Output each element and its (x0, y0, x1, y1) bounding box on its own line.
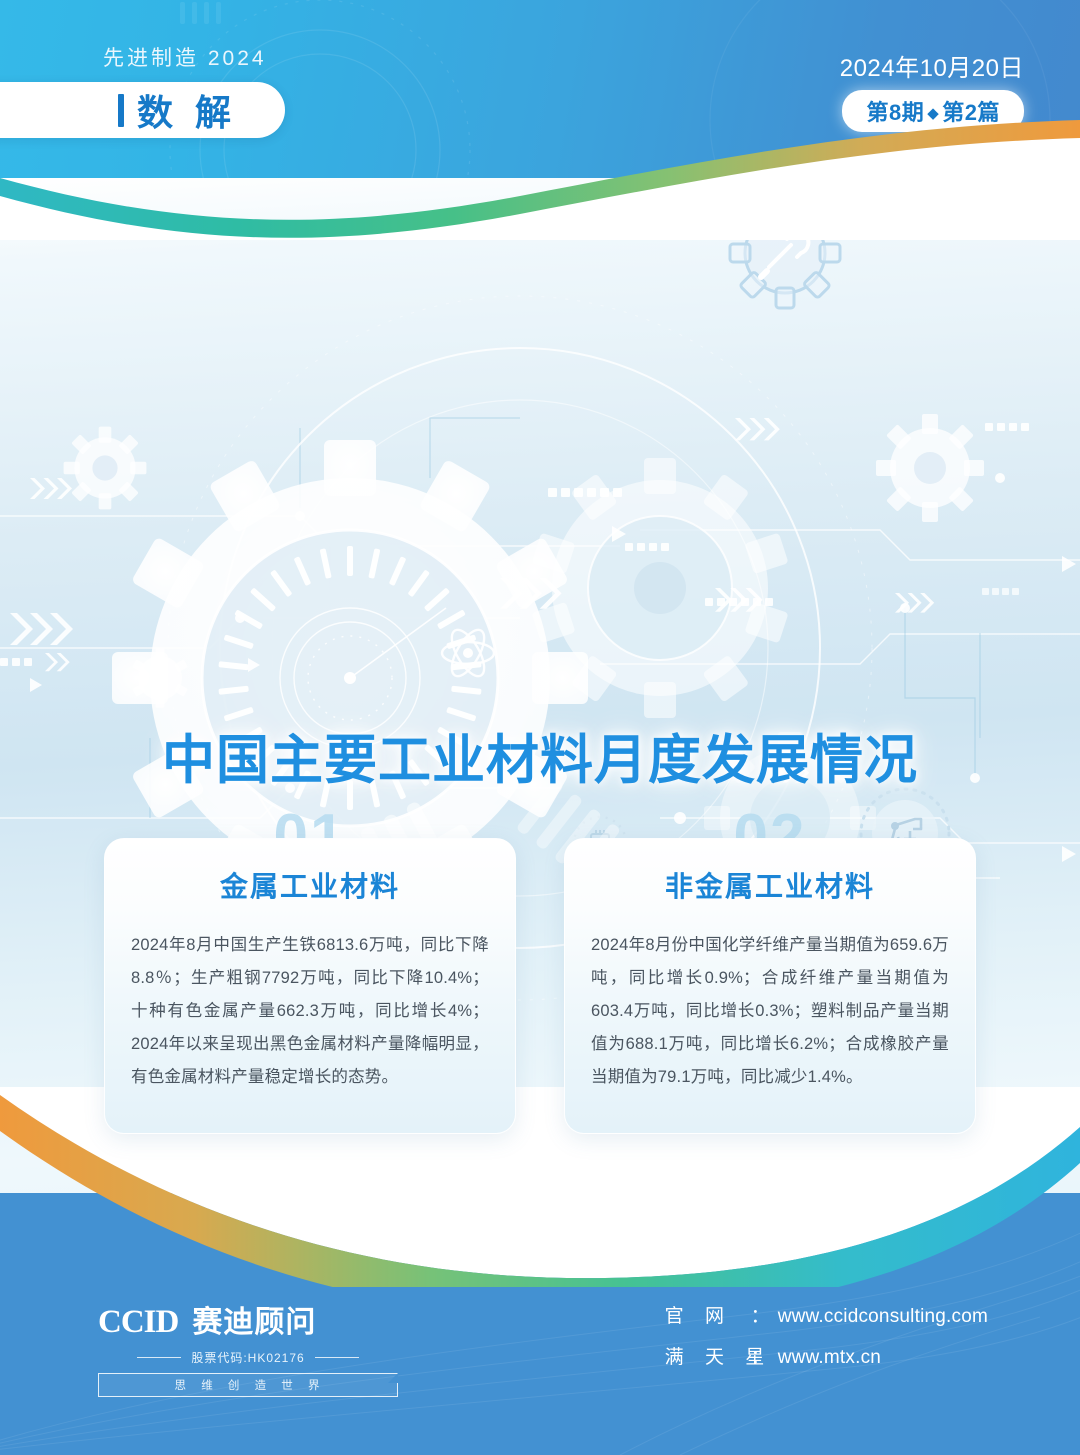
card-body-metal: 2024年8月中国生产生铁6813.6万吨，同比下降8.8％；生产粗钢7792万… (131, 929, 489, 1094)
footer-link-mtx[interactable]: 满 天 星 ： www.mtx.cn (665, 1342, 988, 1369)
colon-official: ： (751, 1301, 770, 1328)
logo-chinese-name: 赛迪顾问 (192, 1297, 316, 1341)
poster-page: 先进制造 2024 数 解 2024年10月20日 第8期◆第2篇 总第8期 中… (0, 0, 1080, 1455)
link-url-mtx[interactable]: www.mtx.cn (778, 1347, 881, 1369)
card-title-nonmetal: 非金属工业材料 (591, 865, 949, 905)
card-wrapper-01: 01 金属工业材料 2024年8月中国生产生铁6813.6万吨，同比下降8.8％… (104, 838, 516, 1134)
footer-links: 官 网 ： www.ccidconsulting.com 满 天 星 ： www… (665, 1301, 988, 1383)
logo-wordmark: CCID (98, 1304, 178, 1341)
publish-date: 2024年10月20日 (840, 48, 1024, 83)
card-title-metal: 金属工业材料 (131, 865, 489, 905)
cards-container: 01 金属工业材料 2024年8月中国生产生铁6813.6万吨，同比下降8.8％… (0, 838, 1080, 1134)
ccid-logo-block: CCID 赛迪顾问 股票代码:HK02176 思 维 创 造 世 界 (98, 1297, 398, 1397)
content-card-metal[interactable]: 金属工业材料 2024年8月中国生产生铁6813.6万吨，同比下降8.8％；生产… (104, 838, 516, 1134)
card-body-nonmetal: 2024年8月份中国化学纤维产量当期值为659.6万吨，同比增长0.9%；合成纤… (591, 929, 949, 1094)
link-url-official[interactable]: www.ccidconsulting.com (778, 1306, 988, 1328)
stock-code-row: 股票代码:HK02176 (98, 1349, 398, 1366)
page-title: 中国主要工业材料月度发展情况 (0, 718, 1080, 794)
kicker-text: 先进制造 2024 (103, 42, 267, 72)
card-wrapper-02: 02 非金属工业材料 2024年8月份中国化学纤维产量当期值为659.6万吨，同… (564, 838, 976, 1134)
top-wave-divider (0, 120, 1080, 240)
stock-code: 股票代码:HK02176 (191, 1349, 304, 1366)
link-label-mtx: 满 天 星 (665, 1342, 751, 1369)
gear-icon (64, 427, 147, 510)
rule-left (137, 1357, 181, 1358)
colon-mtx: ： (751, 1342, 770, 1369)
footer-link-official[interactable]: 官 网 ： www.ccidconsulting.com (665, 1301, 988, 1328)
gear-icon (876, 414, 984, 522)
link-label-official: 官 网 (665, 1301, 751, 1328)
rule-right (315, 1357, 359, 1358)
logo-slogan: 思 维 创 造 世 界 (98, 1373, 398, 1397)
content-card-nonmetal[interactable]: 非金属工业材料 2024年8月份中国化学纤维产量当期值为659.6万吨，同比增长… (564, 838, 976, 1134)
